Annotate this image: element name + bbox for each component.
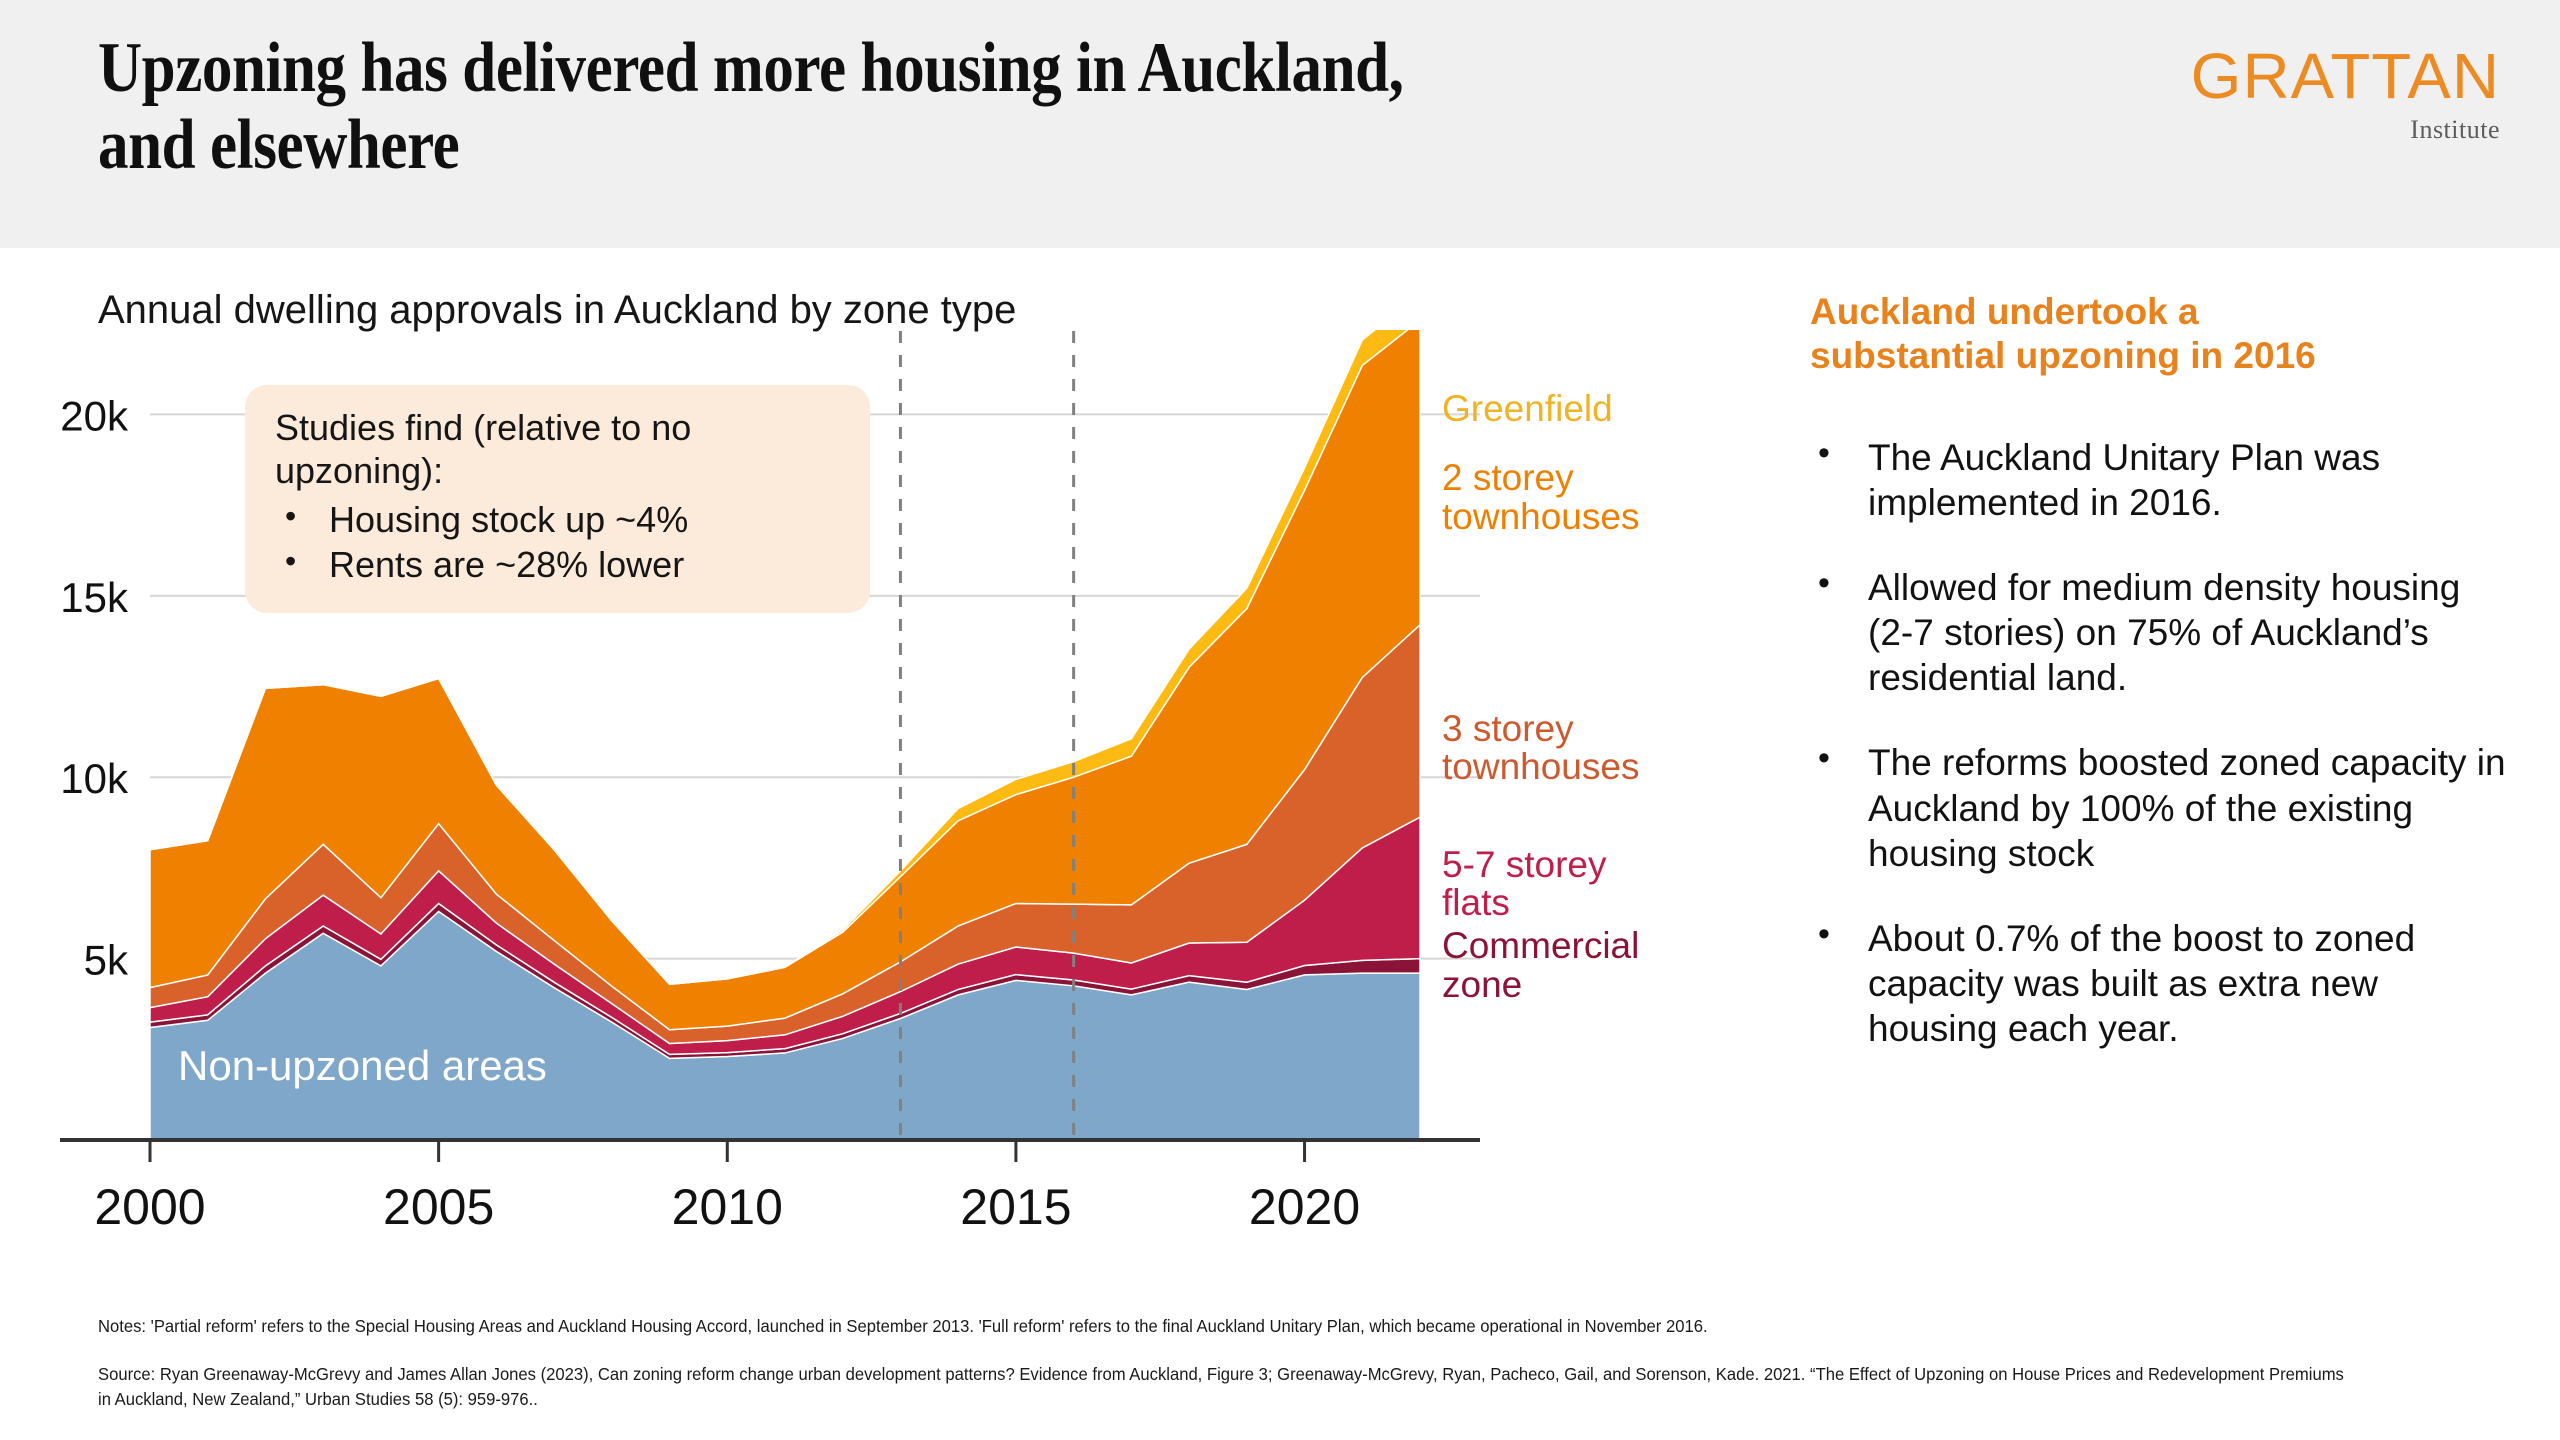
callout-intro: Studies find (relative to no upzoning):	[275, 407, 842, 493]
right-panel-heading: Auckland undertook a substantial upzonin…	[1810, 290, 2510, 379]
y-axis-tick-label: 20k	[60, 392, 129, 439]
page-title: Upzoning has delivered more housing in A…	[98, 30, 1861, 183]
x-axis-tick-label: 2000	[94, 1179, 205, 1235]
x-axis-tick-label: 2010	[672, 1179, 783, 1235]
notes-text: Notes: 'Partial reform' refers to the Sp…	[98, 1315, 2359, 1339]
series-label-3-storey-townhouses: 3 storey townhouses	[1442, 710, 1639, 787]
right-panel-bullet: The reforms boosted zoned capacity in Au…	[1810, 740, 2510, 875]
x-axis-tick-label: 2015	[960, 1179, 1071, 1235]
right-panel-bullet-list: The Auckland Unitary Plan was implemente…	[1810, 435, 2510, 1051]
right-panel-bullet: The Auckland Unitary Plan was implemente…	[1810, 435, 2510, 525]
right-info-panel: Auckland undertook a substantial upzonin…	[1810, 290, 2510, 1091]
studies-callout-box: Studies find (relative to no upzoning): …	[245, 385, 870, 613]
x-axis-tick-label: 2020	[1249, 1179, 1360, 1235]
right-panel-bullet: About 0.7% of the boost to zoned capacit…	[1810, 916, 2510, 1051]
y-axis-tick-label: 10k	[60, 755, 129, 802]
callout-bullet: Housing stock up ~4%	[275, 497, 842, 542]
callout-bullet: Rents are ~28% lower	[275, 542, 842, 587]
y-axis-tick-label: 5k	[84, 937, 129, 984]
grattan-institute-logo: GRATTAN Institute	[2170, 44, 2500, 154]
logo-subtitle: Institute	[2170, 117, 2500, 143]
chart-subtitle: Annual dwelling approvals in Auckland by…	[98, 288, 1016, 333]
series-label-non-upzoned-areas: Non-upzoned areas	[178, 1042, 547, 1089]
y-axis-tick-label: 15k	[60, 574, 129, 621]
series-label-5-7-storey-flats: 5-7 storey flats	[1442, 846, 1607, 923]
series-label-2-storey-townhouses: 2 storey townhouses	[1442, 459, 1639, 536]
right-panel-bullet: Allowed for medium density housing (2-7 …	[1810, 565, 2510, 700]
logo-wordmark: GRATTAN	[2163, 44, 2500, 108]
callout-bullet-list: Housing stock up ~4% Rents are ~28% lowe…	[275, 497, 842, 588]
series-label-commercial-zone: Commercial zone	[1442, 927, 1639, 1004]
x-axis-tick-label: 2005	[383, 1179, 494, 1235]
series-label-greenfield: Greenfield	[1442, 390, 1613, 428]
source-text: Source: Ryan Greenaway-McGrevy and James…	[98, 1362, 2359, 1413]
